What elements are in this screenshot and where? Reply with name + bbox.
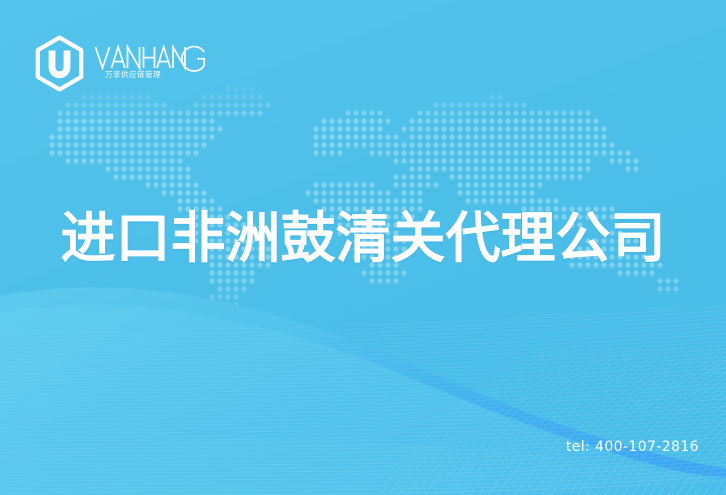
diagonal-line-texture xyxy=(0,295,726,495)
logo-wordmark-group: 万享供应链管理 xyxy=(94,41,206,85)
logo-subtitle: 万享供应链管理 xyxy=(105,69,161,80)
contact-phone[interactable]: tel: 400-107-2816 xyxy=(566,439,699,455)
promo-banner: 万享供应链管理 进口非洲鼓清关代理公司 tel: 400-107-2816 xyxy=(0,0,726,495)
vanhang-hexagon-icon xyxy=(31,35,88,92)
company-logo[interactable]: 万享供应链管理 xyxy=(31,34,206,92)
banner-headline: 进口非洲鼓清关代理公司 xyxy=(0,206,726,270)
